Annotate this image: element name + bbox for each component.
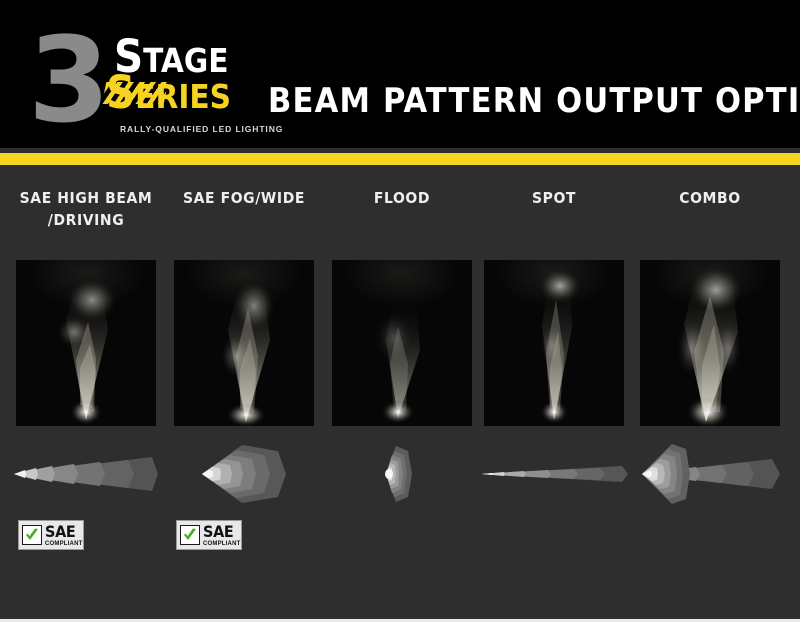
badge-title: SAE <box>203 524 240 540</box>
logo-series-cap: S <box>106 66 135 119</box>
badge-text: SAE COMPLIANT <box>203 524 240 547</box>
column-combo: COMBO <box>632 165 788 610</box>
beam-diagram-long-narrow-cone <box>8 443 164 505</box>
check-icon <box>180 525 200 545</box>
column-flood: FLOOD <box>324 165 480 610</box>
column-label-line1: SPOT <box>476 187 632 209</box>
badge-title: SAE <box>45 524 82 540</box>
column-label-line1: FLOOD <box>324 187 480 209</box>
photo-light-pattern <box>16 260 156 426</box>
photo-light-pattern <box>332 260 472 426</box>
check-icon <box>22 525 42 545</box>
accent-divider <box>0 153 800 165</box>
column-label: COMBO <box>632 187 788 209</box>
beam-diagram-long-thin-spike <box>476 443 632 505</box>
logo-stage-rest: TAGE <box>143 41 228 80</box>
beam-diagram-wide-fan <box>166 443 322 505</box>
photo-light-pattern <box>640 260 780 426</box>
column-spot: SPOT <box>476 165 632 610</box>
column-sae-fog-wide: SAE FOG/WIDE <box>166 165 322 610</box>
badge-subtitle: COMPLIANT <box>45 541 82 547</box>
beam-photo <box>16 260 156 426</box>
beam-photo <box>640 260 780 426</box>
photo-light-pattern <box>174 260 314 426</box>
column-label: SPOT <box>476 187 632 209</box>
column-label: FLOOD <box>324 187 480 209</box>
sae-compliant-badge: SAE COMPLIANT <box>176 520 242 550</box>
column-label-line1: COMBO <box>632 187 788 209</box>
column-label: SAE FOG/WIDE <box>166 187 322 209</box>
logo-word-series: SERIES <box>106 76 231 113</box>
beam-diagram-fan-plus-spike <box>632 443 788 505</box>
header-bar: 3 STAGE SERIES RALLY-QUALIFIED LED LIGHT… <box>0 0 800 148</box>
beam-pattern-infographic: 3 STAGE SERIES RALLY-QUALIFIED LED LIGHT… <box>0 0 800 622</box>
badge-text: SAE COMPLIANT <box>45 524 82 547</box>
sae-compliant-badge: SAE COMPLIANT <box>18 520 84 550</box>
photo-light-pattern <box>484 260 624 426</box>
columns-area: SAE HIGH BEAM /DRIVING <box>0 165 800 610</box>
column-label-line1: SAE HIGH BEAM <box>8 187 164 209</box>
column-sae-high-beam-driving: SAE HIGH BEAM /DRIVING <box>8 165 164 610</box>
page-title: BEAM PATTERN OUTPUT OPTIONS <box>268 80 780 122</box>
column-label-line1: SAE FOG/WIDE <box>166 187 322 209</box>
brand-logo: 3 STAGE SERIES RALLY-QUALIFIED LED LIGHT… <box>28 26 243 136</box>
badge-subtitle: COMPLIANT <box>203 541 240 547</box>
column-label-line2: /DRIVING <box>8 209 164 231</box>
logo-tagline: RALLY-QUALIFIED LED LIGHTING <box>120 124 283 134</box>
beam-photo <box>484 260 624 426</box>
beam-photo <box>332 260 472 426</box>
logo-series-rest: ERIES <box>135 77 231 116</box>
beam-photo <box>174 260 314 426</box>
beam-diagram-round-blob <box>324 443 480 505</box>
column-label: SAE HIGH BEAM /DRIVING <box>8 187 164 231</box>
